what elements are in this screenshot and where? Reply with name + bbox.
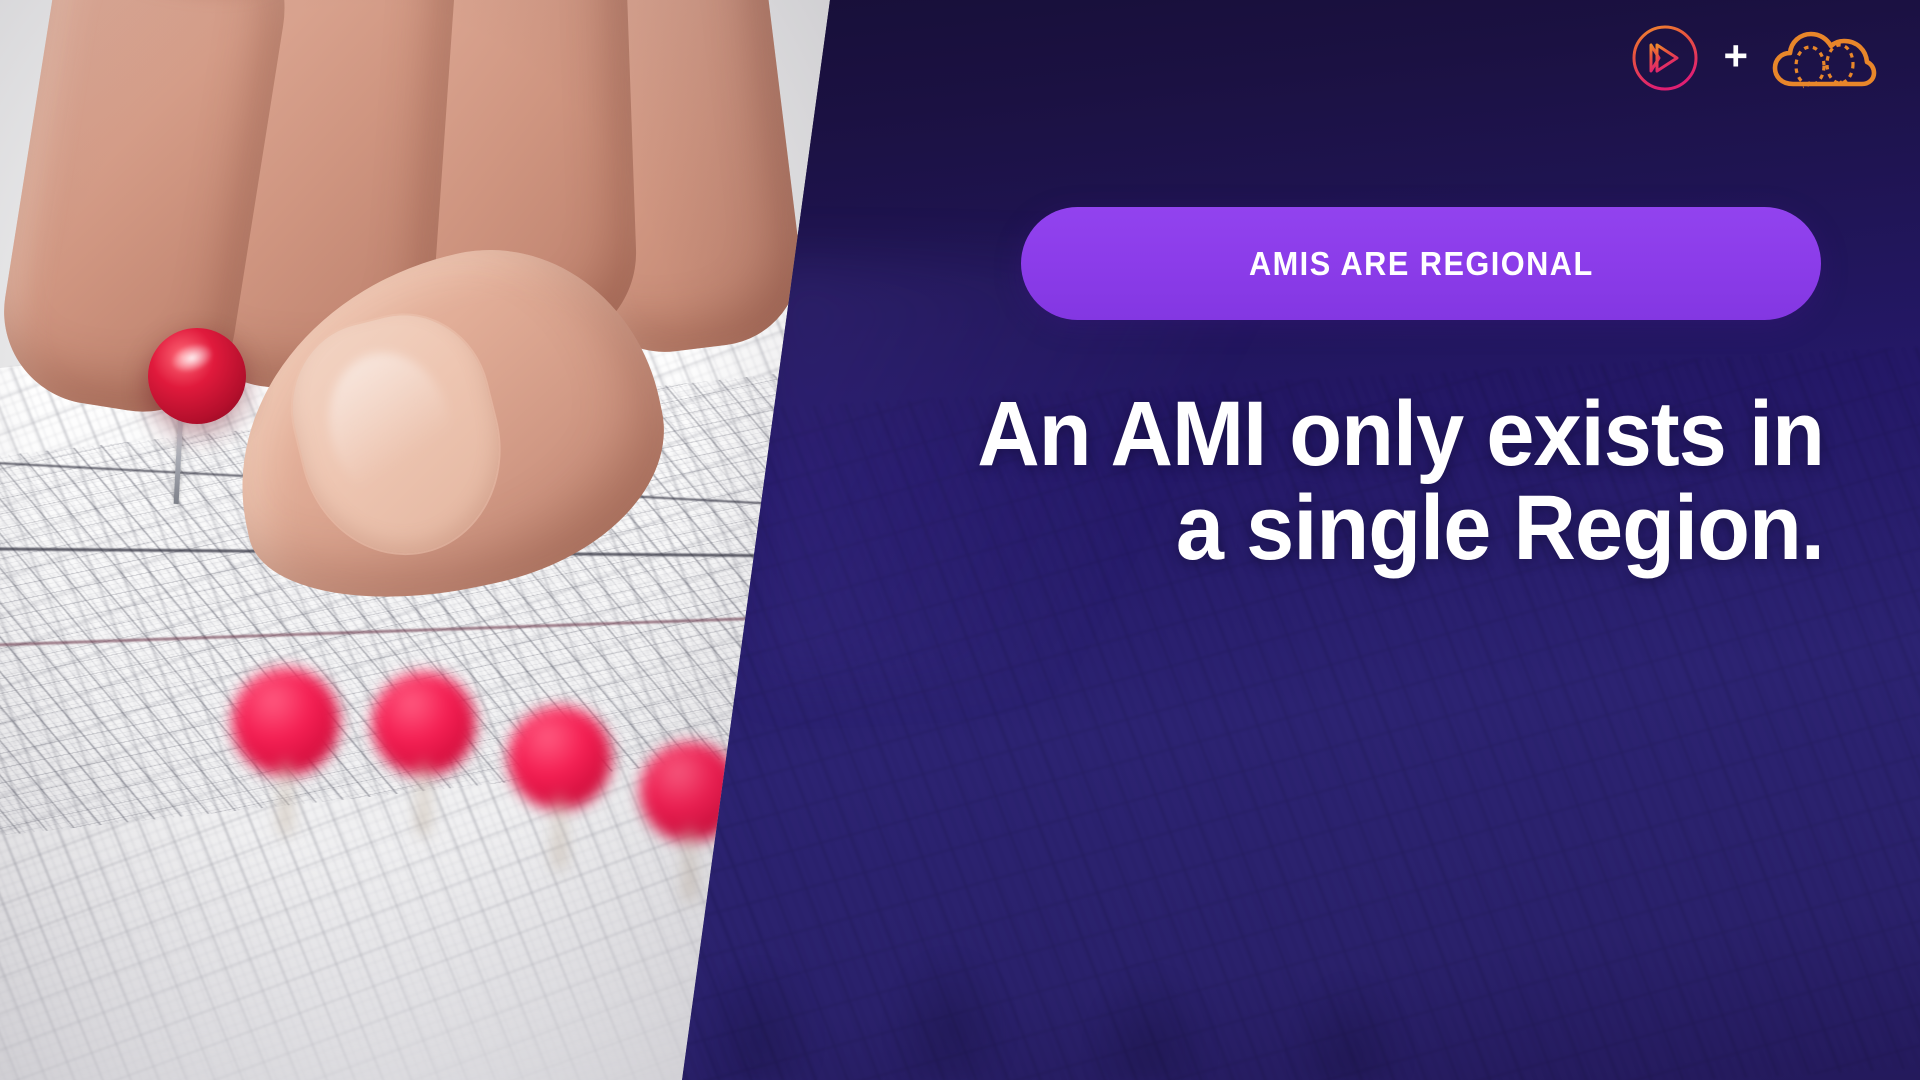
panel-ghost-pins	[620, 780, 1920, 1080]
play-circle-icon	[1629, 22, 1701, 94]
section-badge[interactable]: AMIS ARE REGIONAL	[1021, 207, 1821, 320]
slide-root: + AMIS ARE REGIONAL An AMI only exists i…	[0, 0, 1920, 1080]
headline-line-2: a single Region.	[771, 482, 1824, 576]
headline: An AMI only exists in a single Region.	[704, 388, 1824, 576]
headline-line-1: An AMI only exists in	[771, 388, 1824, 482]
cloud-balloons-icon	[1770, 22, 1878, 94]
section-badge-label: AMIS ARE REGIONAL	[1249, 245, 1594, 283]
logo-row: +	[1629, 22, 1878, 94]
plus-icon: +	[1723, 35, 1748, 81]
